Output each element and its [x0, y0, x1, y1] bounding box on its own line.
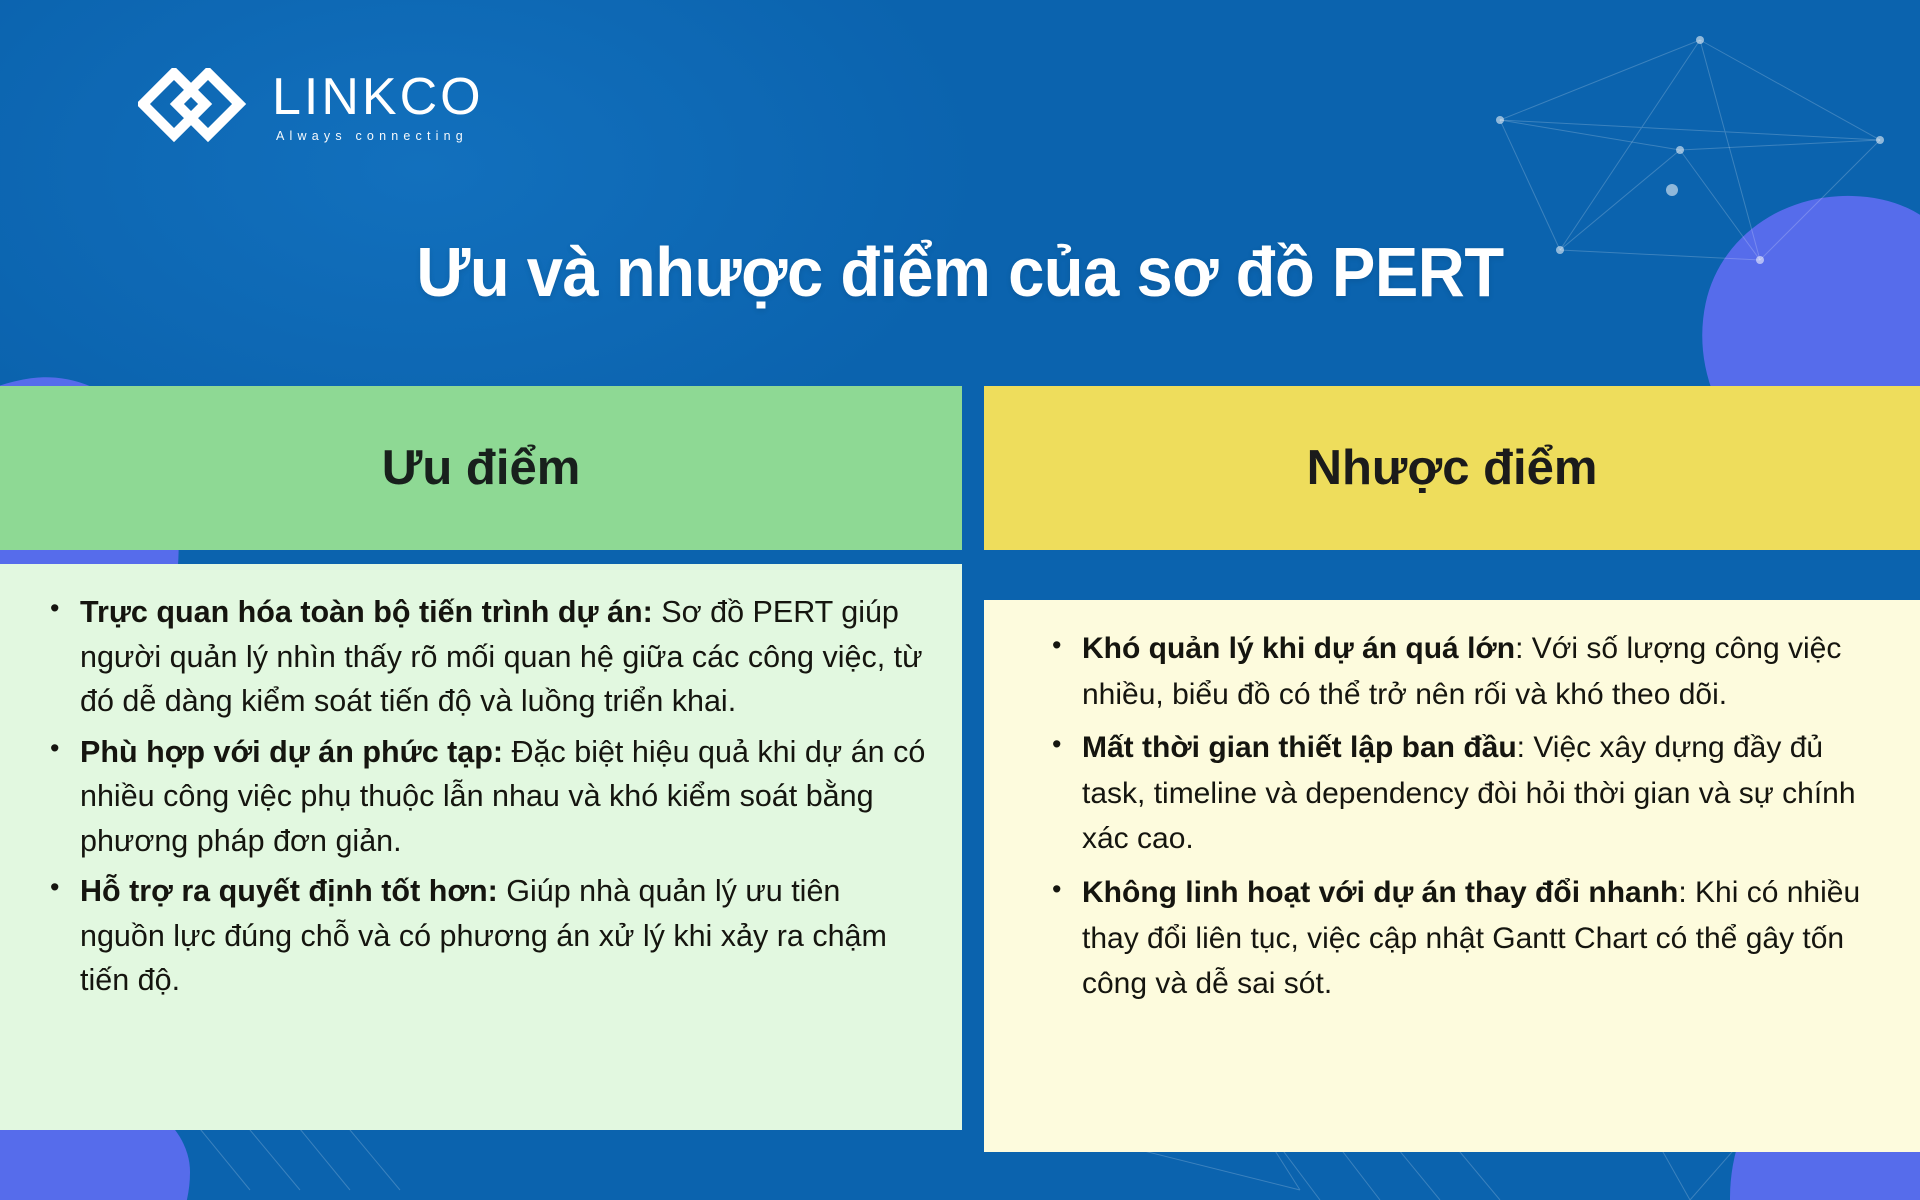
list-item: Trực quan hóa toàn bộ tiến trình dự án: … — [80, 590, 928, 724]
page-title: Ưu và nhược điểm của sơ đồ PERT — [67, 232, 1853, 312]
column-header-pros: Ưu điểm — [0, 386, 962, 550]
list-item-lead: Mất thời gian thiết lập ban đầu — [1082, 731, 1517, 764]
table-body-row: Trực quan hóa toàn bộ tiến trình dự án: … — [0, 564, 1920, 1152]
comparison-table: Ưu điểm Nhược điểm Trực quan hóa toàn bộ… — [0, 386, 1920, 1152]
column-body-pros: Trực quan hóa toàn bộ tiến trình dự án: … — [0, 564, 962, 1130]
pros-list: Trực quan hóa toàn bộ tiến trình dự án: … — [34, 590, 928, 1003]
list-item-lead: Trực quan hóa toàn bộ tiến trình dự án: — [80, 595, 653, 629]
list-item: Phù hợp với dự án phức tạp: Đặc biệt hiệ… — [80, 730, 928, 864]
list-item: Mất thời gian thiết lập ban đầu: Việc xâ… — [1082, 725, 1886, 862]
list-item: Hỗ trợ ra quyết định tốt hơn: Giúp nhà q… — [80, 869, 928, 1003]
cons-list: Khó quản lý khi dự án quá lớn: Với số lư… — [1030, 626, 1886, 1007]
brand-tagline: Always connecting — [276, 129, 468, 143]
list-item-lead: Phù hợp với dự án phức tạp: — [80, 735, 503, 769]
list-item-lead: Khó quản lý khi dự án quá lớn — [1082, 632, 1515, 665]
table-header-row: Ưu điểm Nhược điểm — [0, 386, 1920, 550]
list-item: Khó quản lý khi dự án quá lớn: Với số lư… — [1082, 626, 1886, 717]
brand-logo[interactable]: LINKCO Always connecting — [138, 68, 484, 148]
list-item: Không linh hoạt với dự án thay đổi nhanh… — [1082, 870, 1886, 1007]
column-header-cons: Nhược điểm — [984, 386, 1920, 550]
infographic-canvas: LINKCO Always connecting Ưu và nhược điể… — [0, 0, 1920, 1200]
brand-name: LINKCO — [272, 73, 484, 122]
list-item-lead: Hỗ trợ ra quyết định tốt hơn: — [80, 874, 498, 908]
column-body-cons: Khó quản lý khi dự án quá lớn: Với số lư… — [984, 600, 1920, 1152]
list-item-lead: Không linh hoạt với dự án thay đổi nhanh — [1082, 876, 1678, 909]
interlocking-diamonds-icon — [138, 68, 254, 148]
